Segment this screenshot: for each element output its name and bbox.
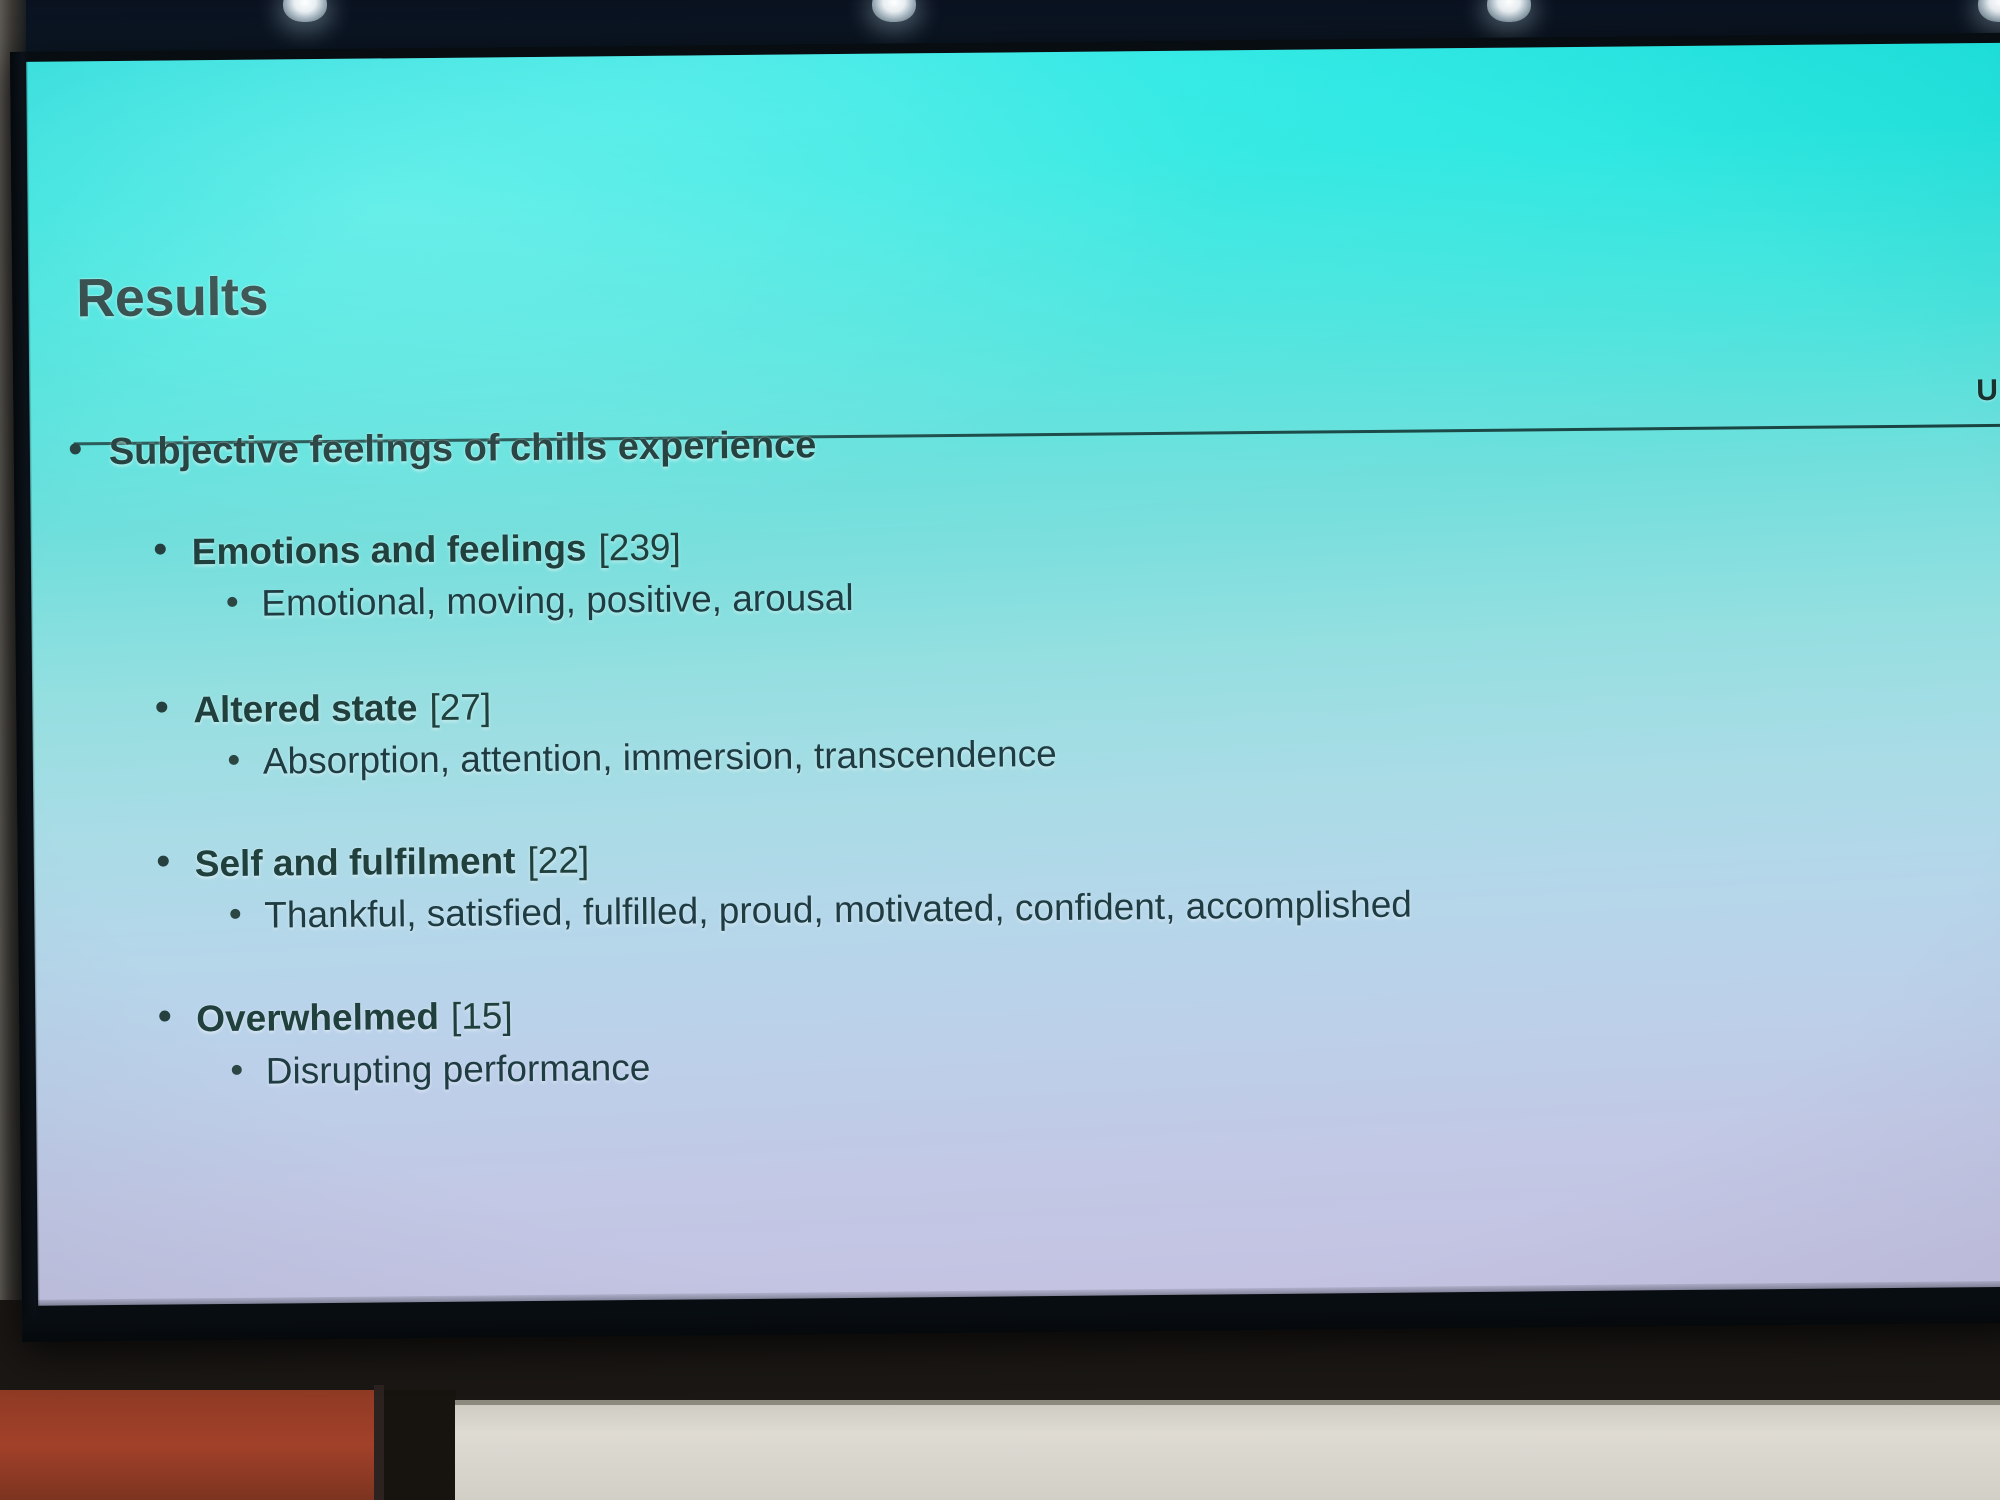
ceiling-light-icon bbox=[283, 0, 327, 22]
bullet-level3-overwhelmed: Disrupting performance bbox=[232, 1047, 651, 1093]
group-count: [15] bbox=[451, 995, 513, 1038]
university-logo-text: UNIVE bbox=[1976, 373, 2000, 408]
bullet-dot-icon bbox=[156, 702, 167, 713]
panel-edge bbox=[374, 1385, 384, 1500]
bullet-dot-icon bbox=[158, 856, 169, 867]
bullet-level3-emotions-and-feelings: Emotional, moving, positive, arousal bbox=[227, 577, 854, 625]
bullet-dot-icon bbox=[229, 755, 239, 765]
ceiling-light-icon bbox=[872, 0, 916, 22]
wall-gap bbox=[384, 1390, 456, 1500]
group-count: [239] bbox=[598, 527, 681, 570]
group-detail: Disrupting performance bbox=[266, 1047, 651, 1093]
page-title: Results bbox=[76, 266, 268, 330]
ceiling-light-icon bbox=[1978, 0, 2000, 22]
group-heading: Altered state bbox=[193, 687, 418, 731]
group-heading: Overwhelmed bbox=[196, 996, 439, 1040]
bullet-level3-altered-state: Absorption, attention, immersion, transc… bbox=[229, 733, 1057, 783]
bullet-level1: Subjective feelings of chills experience bbox=[70, 424, 817, 474]
bullet-dot-icon bbox=[232, 1065, 242, 1075]
whiteboard bbox=[455, 1405, 2000, 1500]
group-count: [27] bbox=[429, 686, 491, 729]
red-wall-panel bbox=[0, 1390, 380, 1500]
bullet-dot-icon bbox=[70, 443, 81, 454]
group-count: [22] bbox=[527, 839, 589, 882]
bullet-level2-overwhelmed: Overwhelmed [15] bbox=[159, 995, 513, 1040]
bullet-level2-self-and-fulfilment: Self and fulfilment [22] bbox=[158, 839, 590, 885]
bullet-level1-label: Subjective feelings of chills experience bbox=[109, 424, 817, 474]
bullet-level2-altered-state: Altered state [27] bbox=[156, 686, 491, 731]
group-detail: Emotional, moving, positive, arousal bbox=[261, 577, 854, 625]
bullet-level2-emotions-and-feelings: Emotions and feelings [239] bbox=[155, 527, 681, 574]
lecture-room-photo: Results UNIVE Subjective feelings of chi… bbox=[0, 0, 2000, 1500]
group-detail: Thankful, satisfied, fulfilled, proud, m… bbox=[264, 884, 1412, 937]
presentation-slide: Results UNIVE Subjective feelings of chi… bbox=[26, 43, 2000, 1306]
bullet-dot-icon bbox=[230, 909, 240, 919]
projection-screen: Results UNIVE Subjective feelings of chi… bbox=[10, 33, 2000, 1342]
bullet-level3-self-and-fulfilment: Thankful, satisfied, fulfilled, proud, m… bbox=[230, 884, 1412, 937]
bullet-dot-icon bbox=[155, 544, 166, 555]
group-detail: Absorption, attention, immersion, transc… bbox=[263, 733, 1057, 783]
group-heading: Emotions and feelings bbox=[192, 527, 587, 573]
slide-body: Subjective feelings of chills experience… bbox=[30, 438, 2000, 1306]
bullet-dot-icon bbox=[159, 1011, 170, 1022]
group-heading: Self and fulfilment bbox=[195, 840, 516, 885]
ceiling-light-icon bbox=[1487, 0, 1531, 22]
bullet-dot-icon bbox=[227, 597, 237, 607]
